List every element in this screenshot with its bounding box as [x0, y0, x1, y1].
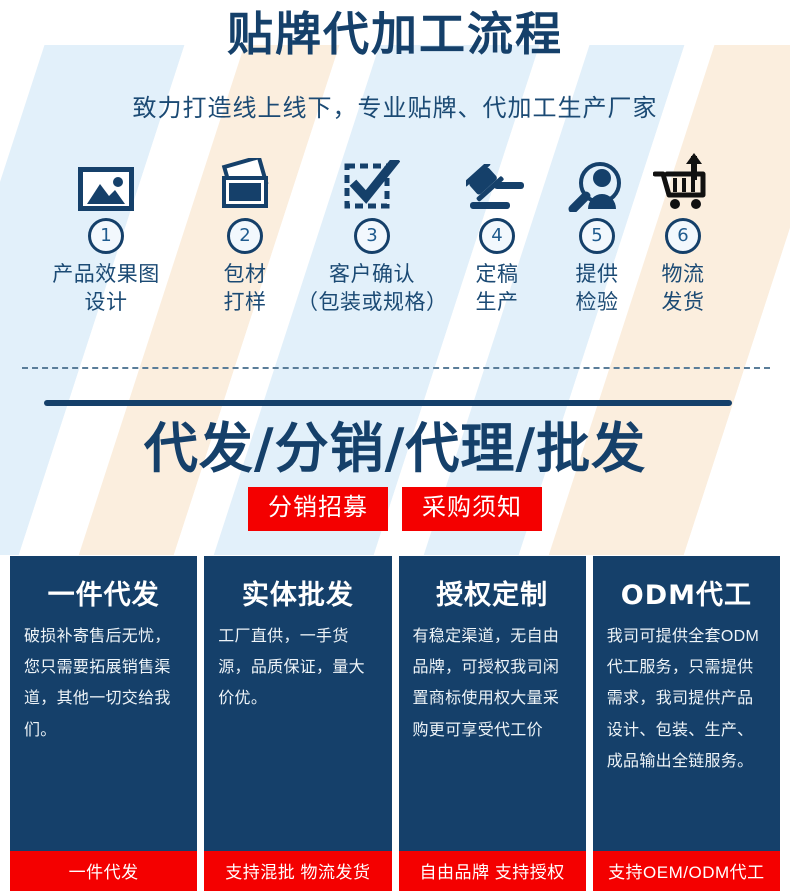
infographic-page: 贴牌代加工流程 致力打造线上线下，专业贴牌、代加工生产厂家 1产品效果图 设计2…: [0, 0, 790, 891]
card-title: ODM代工: [593, 573, 780, 612]
page-subtitle: 致力打造线上线下，专业贴牌、代加工生产厂家: [0, 88, 790, 123]
card-footer-badge[interactable]: 一件代发: [10, 851, 197, 891]
service-card-row: 一件代发 破损补寄售后无忧，您只需要拓展销售渠道，其他一切交给我们。 一件代发 …: [0, 556, 790, 891]
card-title: 一件代发: [10, 573, 197, 612]
promo-button-row: 分销招募 采购须知: [0, 487, 790, 531]
flow-step-label: 物流 发货: [608, 261, 758, 316]
card-footer-badge[interactable]: 支持OEM/ODM代工: [593, 851, 780, 891]
card-body: 工厂直供，一手货源，品质保证，量大价优。: [204, 612, 391, 851]
card-body: 破损补寄售后无忧，您只需要拓展销售渠道，其他一切交给我们。: [10, 612, 197, 851]
section-divider: [22, 367, 770, 369]
shopping-cart-up-icon: [608, 150, 758, 212]
process-flow: 1产品效果图 设计2包材 打样3客户确认 （包装或规格）4定稿 生产5提供 检验…: [0, 150, 790, 350]
card-footer-badge[interactable]: 自由品牌 支持授权: [399, 851, 586, 891]
page-title: 贴牌代加工流程: [0, 8, 790, 61]
card-dropship[interactable]: 一件代发 破损补寄售后无忧，您只需要拓展销售渠道，其他一切交给我们。 一件代发: [10, 556, 197, 891]
flow-step-number: 4: [479, 218, 515, 254]
card-wholesale[interactable]: 实体批发 工厂直供，一手货源，品质保证，量大价优。 支持混批 物流发货: [204, 556, 391, 891]
image-picture-icon: [31, 150, 181, 212]
purchase-notice-button[interactable]: 采购须知: [402, 487, 542, 531]
flow-step-number: 6: [665, 218, 701, 254]
card-body: 我司可提供全套ODM代工服务，只需提供需求，我司提供产品设计、包装、生产、成品输…: [593, 612, 780, 851]
flow-step-number: 1: [88, 218, 124, 254]
card-title: 授权定制: [399, 573, 586, 612]
flow-step-number: 5: [579, 218, 615, 254]
flow-step-6: 6物流 发货: [608, 150, 758, 316]
distributor-recruit-button[interactable]: 分销招募: [248, 487, 388, 531]
flow-step-number: 3: [354, 218, 390, 254]
card-footer-badge[interactable]: 支持混批 物流发货: [204, 851, 391, 891]
promo-headline: 代发/分销/代理/批发: [0, 404, 790, 483]
card-body: 有稳定渠道，无自由品牌，可授权我司闲置商标使用权大量采购更可享受代工价: [399, 612, 586, 851]
flow-step-label: 产品效果图 设计: [31, 261, 181, 316]
flow-step-number: 2: [227, 218, 263, 254]
card-title: 实体批发: [204, 573, 391, 612]
card-odm[interactable]: ODM代工 我司可提供全套ODM代工服务，只需提供需求，我司提供产品设计、包装、…: [593, 556, 780, 891]
flow-step-1: 1产品效果图 设计: [31, 150, 181, 316]
card-authorized-custom[interactable]: 授权定制 有稳定渠道，无自由品牌，可授权我司闲置商标使用权大量采购更可享受代工价…: [399, 556, 586, 891]
